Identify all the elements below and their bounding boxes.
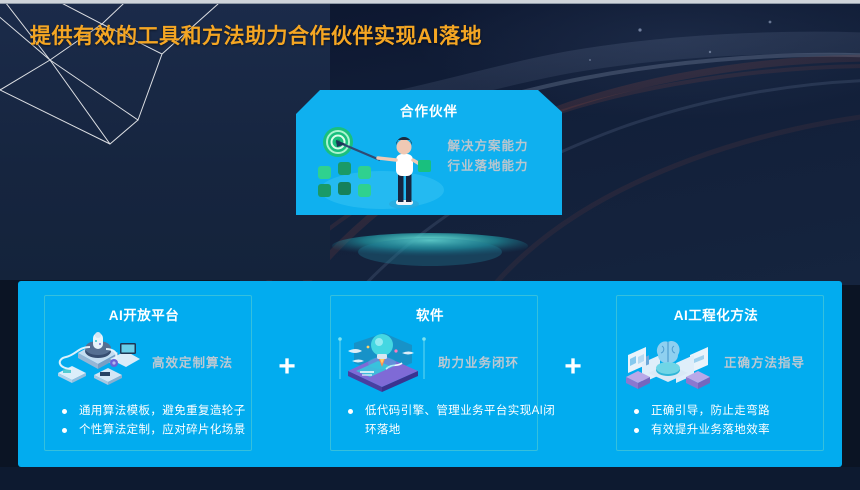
list-item: 有效提升业务落地效率: [634, 421, 842, 440]
partner-card-line-2: 行业落地能力: [428, 156, 548, 176]
pillar-bullet-list: 低代码引擎、管理业务平台实现AI闭环落地: [348, 402, 556, 440]
bullet-dot-icon: [634, 409, 639, 414]
plus-separator-2: +: [556, 281, 590, 467]
partner-card[interactable]: 合作伙伴: [296, 90, 562, 215]
stage-glow: [330, 228, 530, 276]
pillar-title: 软件: [304, 304, 556, 324]
pillar-subtitle: 助力业务闭环: [438, 352, 519, 371]
window-top-border-shadow: [0, 3, 860, 4]
list-item: 低代码引擎、管理业务平台实现AI闭环落地: [348, 402, 556, 440]
list-item: 正确引导，防止走弯路: [634, 402, 842, 421]
partner-card-capabilities: 解决方案能力 行业落地能力: [428, 136, 548, 176]
pillar-subtitle: 正确方法指导: [724, 352, 805, 371]
slide-canvas: 提供有效的工具和方法助力合作伙伴实现AI落地 合作伙伴: [0, 0, 860, 490]
bullet-dot-icon: [62, 409, 67, 414]
pillars-bar: AI开放平台: [18, 281, 842, 467]
partner-card-line-1: 解决方案能力: [428, 136, 548, 156]
list-item: 个性算法定制，应对碎片化场景: [62, 421, 270, 440]
bullet-text: 个性算法定制，应对碎片化场景: [79, 421, 270, 440]
isometric-ai-platform-illustration: [48, 329, 144, 393]
bullet-text: 低代码引擎、管理业务平台实现AI闭环落地: [365, 402, 556, 440]
pillar-bullet-list: 正确引导，防止走弯路 有效提升业务落地效率: [634, 402, 842, 440]
bullet-dot-icon: [348, 409, 353, 414]
pillar-card-ai-platform[interactable]: AI开放平台: [18, 281, 270, 467]
pillar-bullet-list: 通用算法模板，避免重复造轮子 个性算法定制，应对碎片化场景: [62, 402, 270, 440]
pillar-title: AI工程化方法: [590, 304, 842, 324]
bullet-dot-icon: [634, 428, 639, 433]
list-item: 通用算法模板，避免重复造轮子: [62, 402, 270, 421]
pillar-card-ai-engineering[interactable]: AI工程化方法: [590, 281, 842, 467]
page-title: 提供有效的工具和方法助力合作伙伴实现AI落地: [30, 22, 500, 51]
archer-target-illustration: [304, 116, 444, 212]
bullet-text: 通用算法模板，避免重复造轮子: [79, 402, 270, 421]
pillar-subtitle: 高效定制算法: [152, 352, 233, 371]
plus-separator-1: +: [270, 281, 304, 467]
slide-bottom-edge: [0, 467, 860, 490]
pillar-card-software[interactable]: 软件: [304, 281, 556, 467]
bullet-text: 有效提升业务落地效率: [651, 421, 842, 440]
bullet-dot-icon: [62, 428, 67, 433]
isometric-brain-dashboard-servers-illustration: [620, 329, 716, 393]
bullet-text: 正确引导，防止走弯路: [651, 402, 842, 421]
pillar-title: AI开放平台: [18, 304, 270, 324]
isometric-lightbulb-rocket-tablet-illustration: [334, 329, 430, 393]
